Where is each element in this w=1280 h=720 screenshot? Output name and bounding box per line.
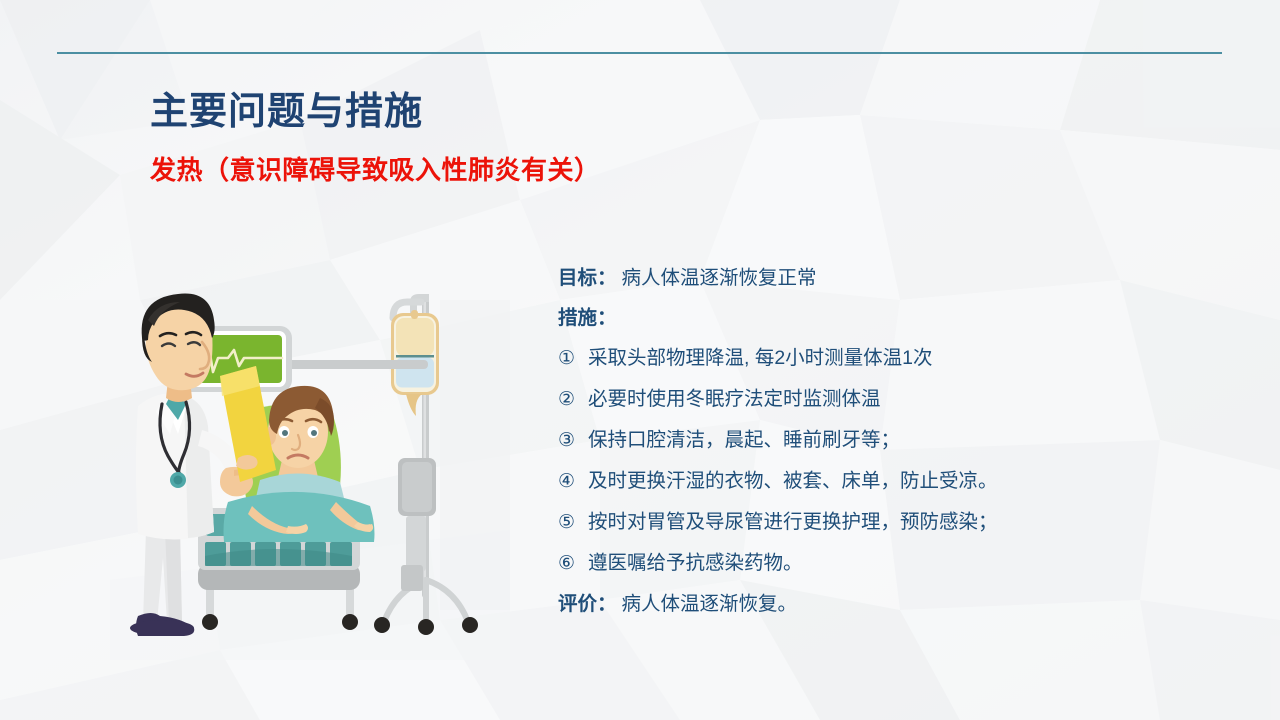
measures-text-block: 目标： 病人体温逐渐恢复正常 措施： ① 采取头部物理降温, 每2小时测量体温1… (558, 258, 1178, 624)
measure-number: ⑤ (558, 503, 588, 543)
measure-number: ① (558, 339, 588, 379)
goal-label: 目标： (558, 258, 617, 298)
measure-number: ③ (558, 421, 588, 461)
slide: 主要问题与措施 发热（意识障碍导致吸入性肺炎有关） (0, 0, 1280, 720)
measure-item: ⑤ 按时对胃管及导尿管进行更换护理，预防感染； (558, 502, 1178, 543)
measure-text: 采取头部物理降温, 每2小时测量体温1次 (588, 338, 933, 378)
goal-text: 病人体温逐渐恢复正常 (622, 258, 817, 298)
measure-text: 必要时使用冬眠疗法定时监测体温 (588, 379, 881, 419)
page-title: 主要问题与措施 (150, 80, 423, 135)
measure-number: ⑥ (558, 544, 588, 584)
measure-item: ④ 及时更换汗湿的衣物、被套、床单，防止受凉。 (558, 461, 1178, 502)
measure-text: 按时对胃管及导尿管进行更换护理，预防感染； (588, 502, 998, 542)
measure-item: ⑥ 遵医嘱给予抗感染药物。 (558, 543, 1178, 584)
measure-item: ① 采取头部物理降温, 每2小时测量体温1次 (558, 338, 1178, 379)
measure-text: 及时更换汗湿的衣物、被套、床单，防止受凉。 (588, 461, 998, 501)
measures-label: 措施： (558, 298, 617, 338)
header-divider-line (57, 52, 1222, 54)
evaluation-line: 评价： 病人体温逐渐恢复。 (558, 584, 1178, 624)
measure-number: ④ (558, 462, 588, 502)
goal-line: 目标： 病人体温逐渐恢复正常 (558, 258, 1178, 298)
page-subtitle: 发热（意识障碍导致吸入性肺炎有关） (150, 150, 601, 187)
measure-item: ③ 保持口腔清洁，晨起、睡前刷牙等； (558, 420, 1178, 461)
iv-drip-bag (391, 302, 439, 416)
measure-text: 遵医嘱给予抗感染药物。 (588, 543, 803, 583)
measures-label-line: 措施： (558, 298, 1178, 338)
measure-number: ② (558, 380, 588, 420)
measure-text: 保持口腔清洁，晨起、睡前刷牙等； (588, 420, 900, 460)
evaluation-text: 病人体温逐渐恢复。 (622, 584, 798, 624)
evaluation-label: 评价： (558, 584, 617, 624)
illustration-doctor-patient (110, 280, 510, 660)
measure-item: ② 必要时使用冬眠疗法定时监测体温 (558, 379, 1178, 420)
